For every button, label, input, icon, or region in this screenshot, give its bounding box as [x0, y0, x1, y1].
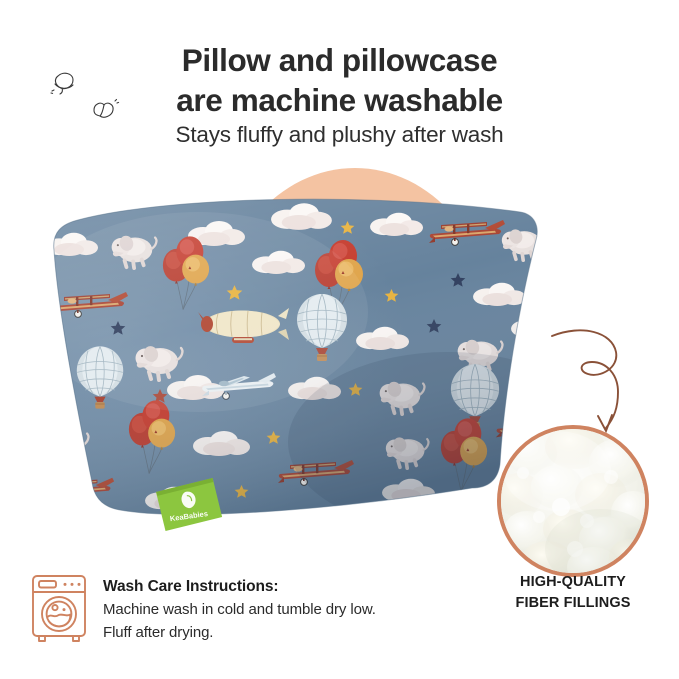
- headline-line-1: Pillow and pillowcase: [182, 42, 497, 78]
- soap-bubble-doodle-2: [88, 96, 120, 126]
- wash-care-title: Wash Care Instructions:: [103, 578, 433, 596]
- fiber-label-line-1: HIGH-QUALITY: [470, 572, 676, 593]
- fiber-filling-label: HIGH-QUALITY FIBER FILLINGS: [470, 572, 676, 613]
- wash-care-line-2: Fluff after drying.: [103, 622, 433, 645]
- product-infographic: Pillow and pillowcase are machine washab…: [0, 0, 679, 679]
- washing-machine-icon: [28, 572, 90, 644]
- fiber-filling-inset: [497, 425, 649, 577]
- product-image-pillow: KeaBabies: [48, 192, 548, 532]
- curved-loop-arrow-icon: [548, 300, 660, 440]
- soap-bubble-doodle-1: [48, 66, 82, 100]
- wash-care-text: Wash Care Instructions: Machine wash in …: [103, 578, 433, 645]
- fiber-label-line-2: FIBER FILLINGS: [470, 593, 676, 614]
- wash-care-line-1: Machine wash in cold and tumble dry low.: [103, 599, 433, 622]
